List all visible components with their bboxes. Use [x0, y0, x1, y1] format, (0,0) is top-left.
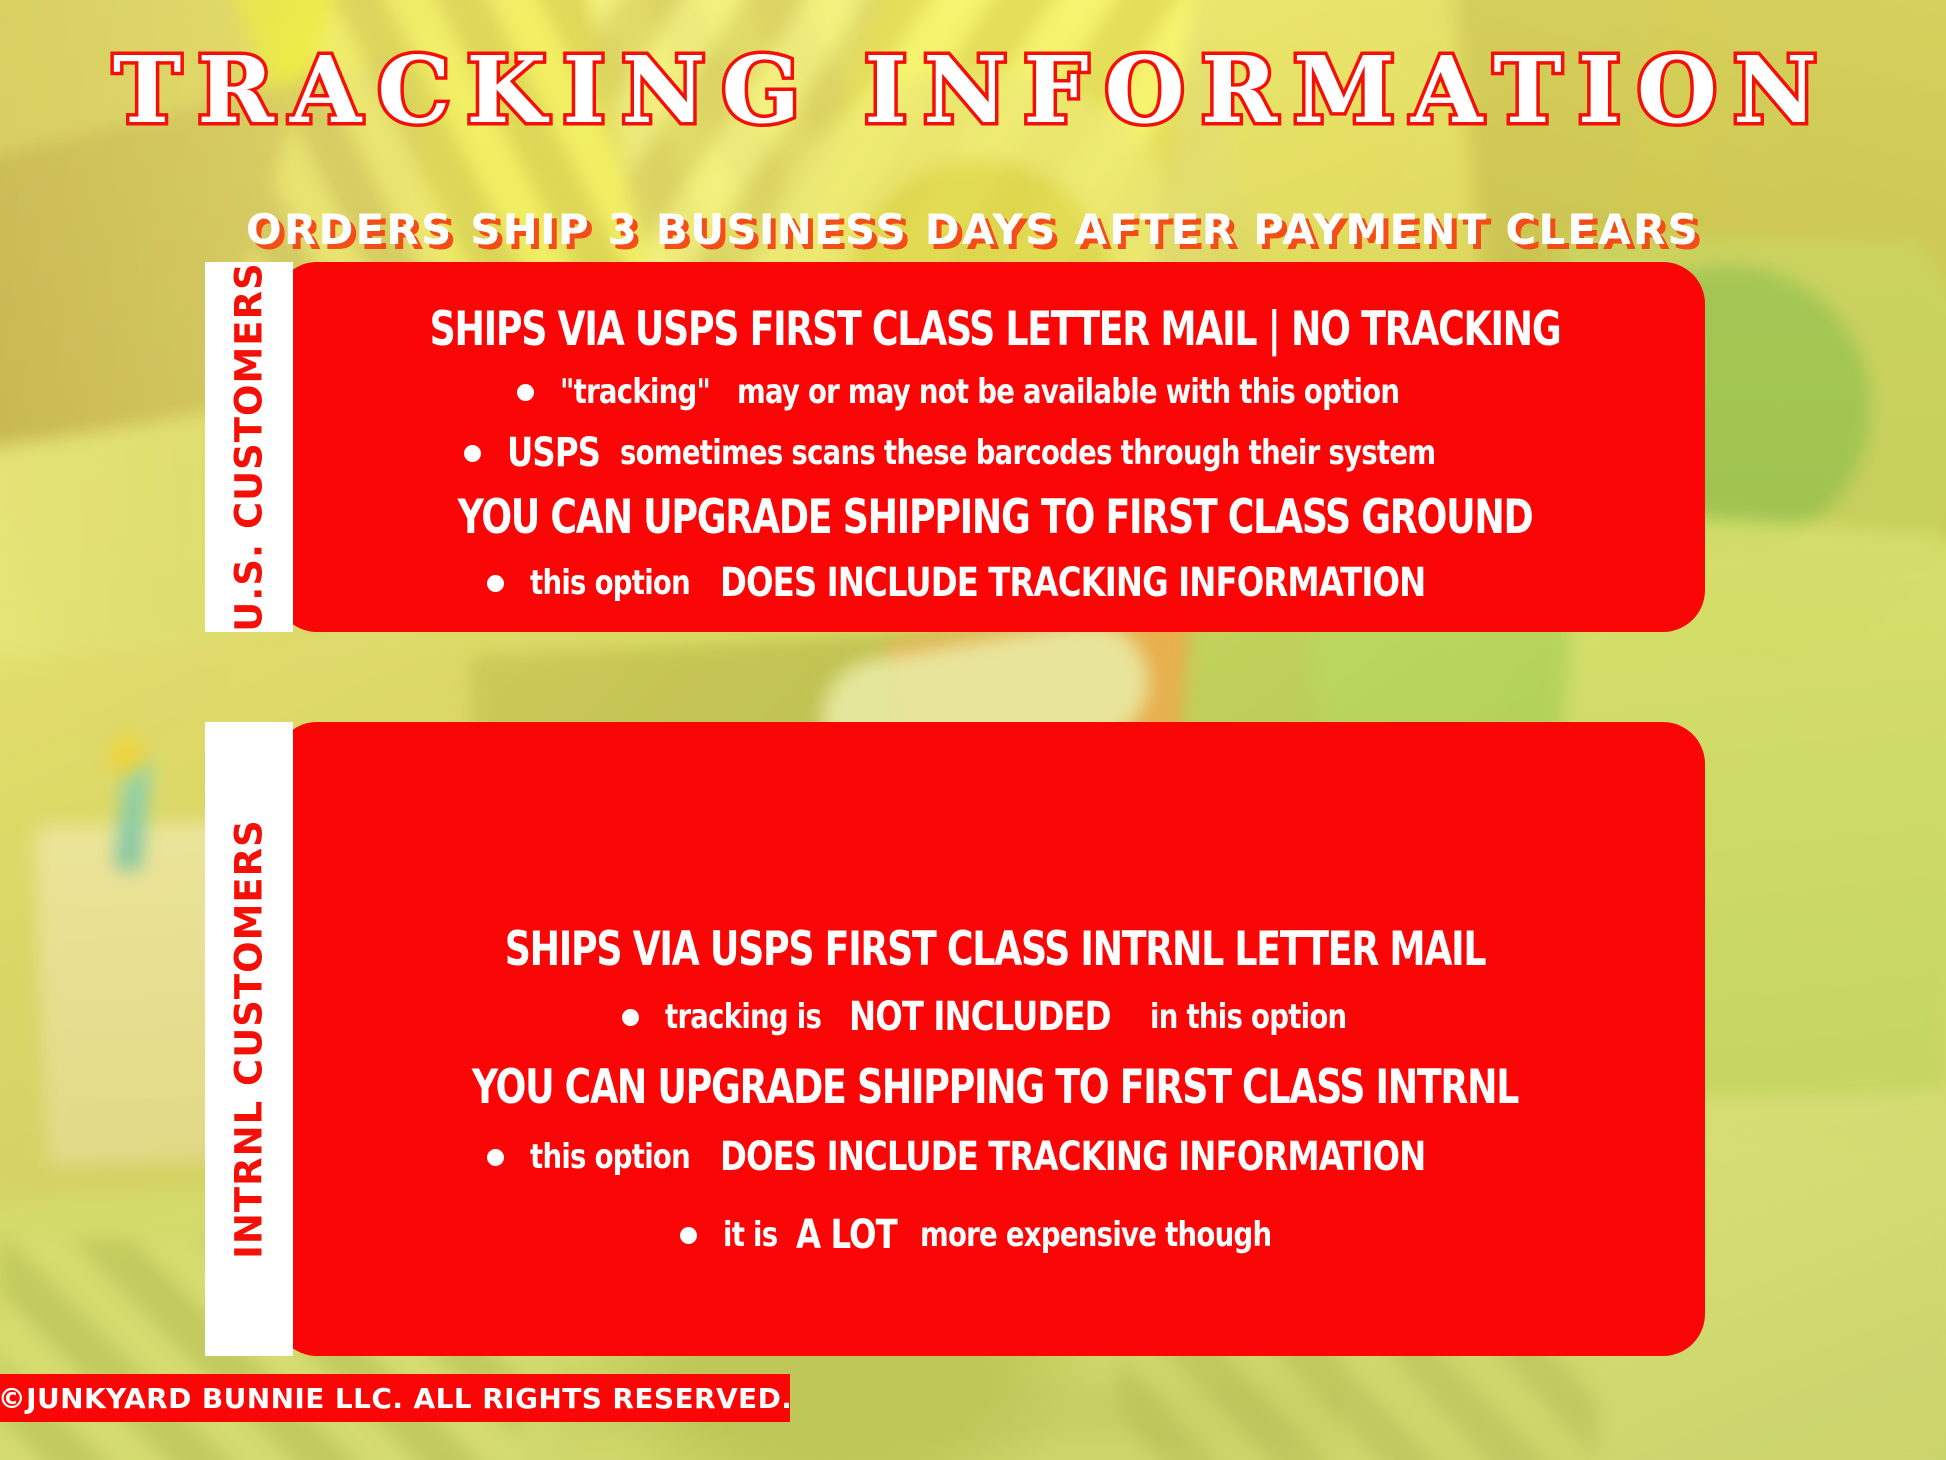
us-customers-tab-label: U.S. CUSTOMERS	[228, 262, 271, 631]
page-subtitle: ORDERS SHIP 3 BUSINESS DAYS AFTER PAYMEN…	[0, 205, 1946, 254]
bullet-dot-icon	[680, 1227, 697, 1244]
bullet-pre: this option	[530, 1137, 690, 1177]
bullet-lead: USPS	[507, 430, 600, 476]
poster-canvas: TRACKING INFORMATION ORDERS SHIP 3 BUSIN…	[0, 0, 1946, 1460]
intrnl-block1-heading: SHIPS VIA USPS FIRST CLASS INTRNL LETTER…	[393, 922, 1597, 977]
us-block1-bullet-2: USPS sometimes scans these barcodes thro…	[295, 430, 1695, 476]
bullet-lead: this option	[530, 563, 690, 603]
copyright-text: ©JUNKYARD BUNNIE LLC. ALL RIGHTS RESERVE…	[0, 1382, 792, 1415]
section-us-customers: U.S. CUSTOMERS SHIPS VIA USPS FIRST CLAS…	[205, 262, 1705, 632]
bullet-mid: NOT INCLUDED	[849, 994, 1111, 1040]
bullet-mid: A LOT	[796, 1212, 897, 1258]
intrnl-block1-bullet-1: tracking is NOT INCLUDED in this option	[295, 994, 1695, 1040]
intrnl-customers-tab: INTRNL CUSTOMERS	[205, 722, 293, 1356]
bullet-dot-icon	[622, 1009, 639, 1026]
intrnl-block2-heading: YOU CAN UPGRADE SHIPPING TO FIRST CLASS …	[393, 1060, 1597, 1115]
bullet-dot-icon	[487, 575, 504, 592]
intrnl-block2-bullet-1: this option DOES INCLUDE TRACKING INFORM…	[295, 1134, 1695, 1180]
bullet-post: more expensive though	[920, 1215, 1271, 1255]
bullet-mid: DOES INCLUDE TRACKING INFORMATION	[720, 1134, 1425, 1180]
bullet-rest: DOES INCLUDE TRACKING INFORMATION	[720, 560, 1425, 606]
bullet-rest: may or may not be available with this op…	[737, 372, 1399, 412]
intrnl-customers-tab-label: INTRNL CUSTOMERS	[228, 819, 271, 1259]
us-block2-bullet-1: this option DOES INCLUDE TRACKING INFORM…	[295, 560, 1695, 606]
bullet-rest: sometimes scans these barcodes through t…	[620, 433, 1435, 473]
us-customers-tab: U.S. CUSTOMERS	[205, 262, 293, 632]
us-block1-bullet-1: "tracking" may or may not be available w…	[295, 372, 1695, 412]
bullet-lead: "tracking"	[560, 372, 710, 412]
us-block1-heading: SHIPS VIA USPS FIRST CLASS LETTER MAIL |…	[393, 302, 1597, 357]
intrnl-block2-bullet-2: it is A LOT more expensive though	[295, 1212, 1695, 1258]
bullet-pre: it is	[723, 1215, 777, 1255]
bullet-pre: tracking is	[665, 997, 821, 1037]
bullet-dot-icon	[517, 384, 534, 401]
page-title: TRACKING INFORMATION	[0, 36, 1946, 144]
us-block2-heading: YOU CAN UPGRADE SHIPPING TO FIRST CLASS …	[393, 490, 1597, 545]
bullet-dot-icon	[464, 445, 481, 462]
section-intrnl-customers: INTRNL CUSTOMERS SHIPS VIA USPS FIRST CL…	[205, 722, 1705, 1356]
bullet-post: in this option	[1150, 997, 1346, 1037]
footer-bar: ©JUNKYARD BUNNIE LLC. ALL RIGHTS RESERVE…	[0, 1374, 790, 1422]
bullet-dot-icon	[487, 1149, 504, 1166]
